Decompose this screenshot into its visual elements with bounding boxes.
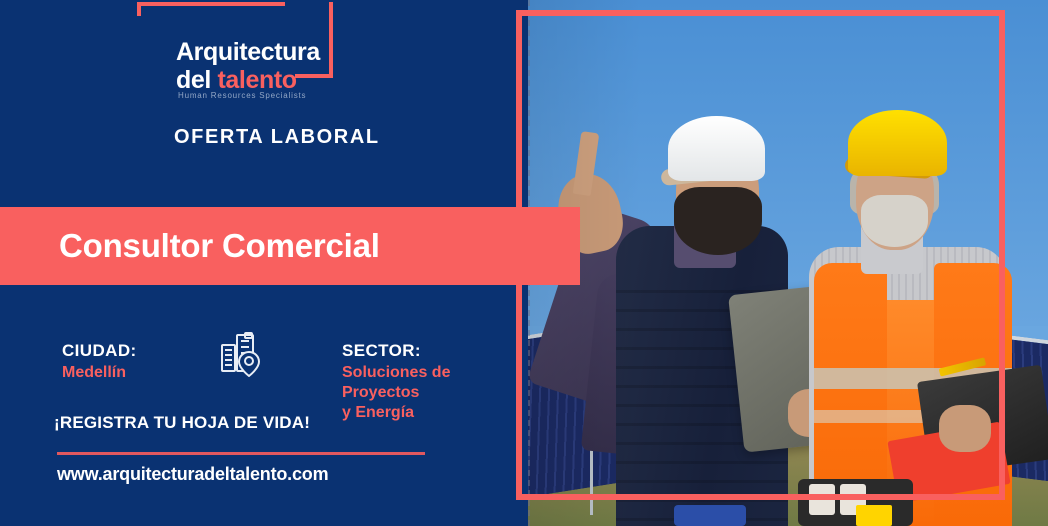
sector-label: SECTOR: (342, 341, 421, 361)
job-title: Consultor Comercial (59, 227, 380, 265)
worksite-photo (528, 0, 1048, 526)
photo-edge-shading (528, 0, 1048, 526)
logo-bracket-bottom (295, 74, 333, 78)
website-url[interactable]: www.arquitecturadeltalento.com (57, 464, 328, 485)
logo-bracket-right (329, 2, 333, 78)
job-posting-poster: Arquitectura del talento Human Resources… (0, 0, 1048, 526)
logo-bracket-top (137, 2, 285, 6)
logo-tagline: Human Resources Specialists (178, 91, 306, 100)
logo-bracket-left (137, 2, 141, 16)
eyebrow-heading: OFERTA LABORAL (174, 126, 380, 149)
city-label: CIUDAD: (62, 341, 137, 361)
footer-divider (57, 452, 425, 455)
logo-word-talento: talento (217, 66, 296, 94)
city-value: Medellín (62, 364, 126, 382)
photo-container (528, 0, 1048, 526)
buildings-location-pin-icon (219, 331, 267, 377)
cta-text[interactable]: ¡REGISTRA TU HOJA DE VIDA! (54, 413, 310, 433)
logo-line-1: Arquitectura (176, 38, 320, 67)
sector-value: Soluciones de Proyectos y Energía (342, 363, 450, 423)
logo-word-del: del (176, 66, 217, 94)
